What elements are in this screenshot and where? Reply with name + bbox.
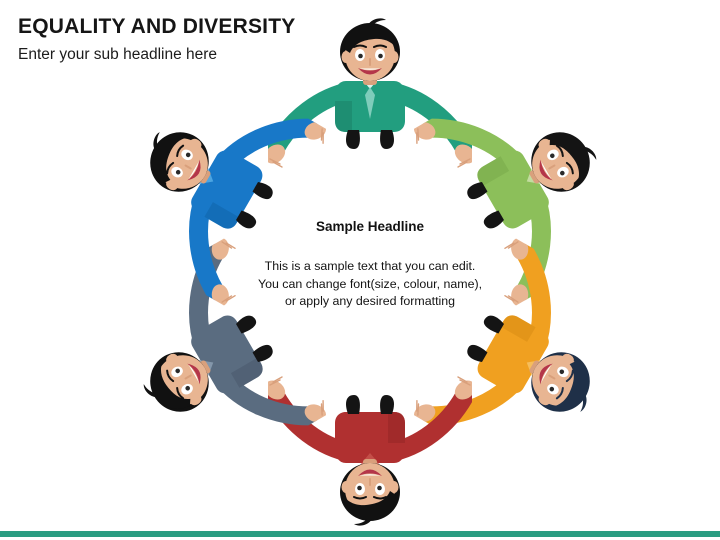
center-text-block: Sample Headline This is a sample text th… xyxy=(220,218,520,311)
center-body-line: or apply any desired formatting xyxy=(220,293,520,311)
center-body-line: You can change font(size, colour, name), xyxy=(220,276,520,294)
pupil-left xyxy=(377,486,382,491)
head xyxy=(340,463,400,526)
center-body-line: This is a sample text that you can edit. xyxy=(220,258,520,276)
ear-right xyxy=(390,51,399,63)
center-headline: Sample Headline xyxy=(220,218,520,236)
ear-left xyxy=(342,51,351,63)
slide-canvas: EQUALITY AND DIVERSITY Enter your sub he… xyxy=(0,0,720,540)
leg-left xyxy=(380,395,394,414)
head xyxy=(340,18,400,81)
center-body-text: This is a sample text that you can edit.… xyxy=(220,258,520,311)
torso-shade xyxy=(388,412,405,443)
torso-shade xyxy=(335,101,352,132)
ear-right xyxy=(342,481,351,493)
ear-left xyxy=(390,481,399,493)
pupil-right xyxy=(357,486,362,491)
pupil-right xyxy=(378,54,383,59)
bottom-accent-bar xyxy=(0,531,720,537)
pupil-left xyxy=(358,54,363,59)
